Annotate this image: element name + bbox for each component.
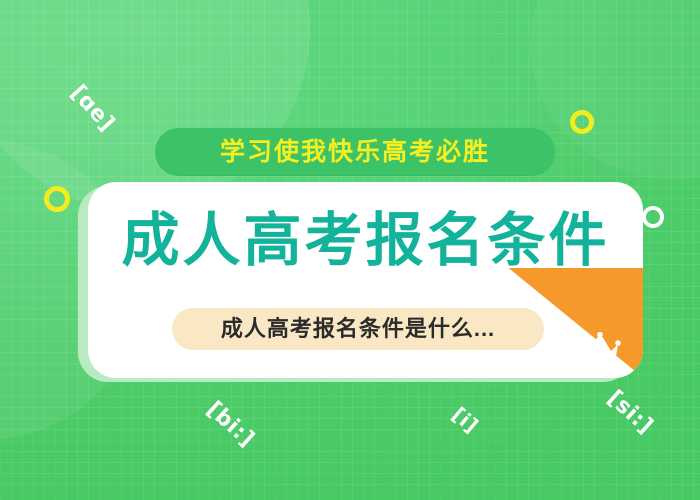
tagline-banner: 学习使我快乐高考必胜 (155, 128, 555, 176)
ring-white-right (642, 206, 664, 228)
main-card: 成人高考报名条件 成人高考报名条件是什么... (88, 182, 643, 378)
ring-yellow-left (44, 186, 70, 212)
poster-canvas: [ɑe] [bi:] [i] [si:] 学习使我快乐高考必胜 成人高考报名条件… (0, 0, 700, 500)
crown-icon (579, 332, 621, 364)
corner-wedge (508, 268, 643, 378)
subtitle-text: 成人高考报名条件是什么... (221, 318, 495, 340)
ring-yellow-top (570, 110, 594, 134)
tagline-text: 学习使我快乐高考必胜 (220, 140, 490, 165)
page-title: 成人高考报名条件 (88, 212, 643, 270)
subtitle-pill: 成人高考报名条件是什么... (172, 308, 544, 350)
